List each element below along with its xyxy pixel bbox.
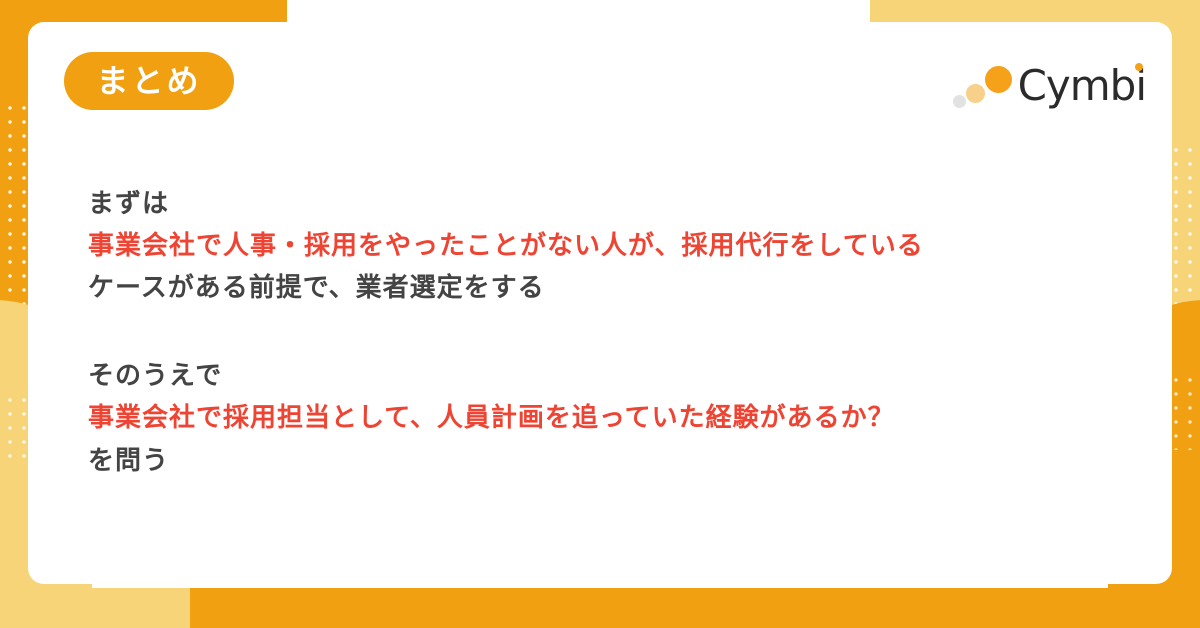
paragraph-2: そのうえで 事業会社で採用担当として、人員計画を追っていた経験があるか？ を問う — [88, 354, 1132, 480]
logo-dots-group — [952, 62, 1014, 110]
section-badge-label: まとめ — [96, 65, 201, 97]
content-card: まとめ Cymbi まずは 事業会社で人事・採用をやったことがない人が、採用代行… — [28, 22, 1172, 584]
paragraph-1-line-1: まずは — [88, 182, 1132, 224]
paragraph-2-line-1: そのうえで — [88, 354, 1132, 396]
decor-bottom-tan-bar — [0, 588, 190, 628]
logo-dot-medium-icon — [966, 84, 985, 103]
section-badge: まとめ — [64, 52, 234, 110]
logo-dot-large-icon — [985, 66, 1012, 93]
body-text-block: まずは 事業会社で人事・採用をやったことがない人が、採用代行をしている ケースが… — [88, 182, 1132, 481]
paragraph-1-line-2: 事業会社で人事・採用をやったことがない人が、採用代行をしている — [88, 224, 1132, 266]
logo-i-dot-icon — [1135, 63, 1143, 71]
paragraph-1: まずは 事業会社で人事・採用をやったことがない人が、採用代行をしている ケースが… — [88, 182, 1132, 308]
logo-dot-small-icon — [953, 95, 966, 108]
decor-bottom-orange-bar — [92, 588, 1200, 628]
paragraph-1-line-3: ケースがある前提で、業者選定をする — [88, 266, 1132, 308]
slide-root: まとめ Cymbi まずは 事業会社で人事・採用をやったことがない人が、採用代行… — [0, 0, 1200, 628]
paragraph-2-line-2: 事業会社で採用担当として、人員計画を追っていた経験があるか？ — [88, 396, 1132, 438]
paragraph-2-line-3: を問う — [88, 439, 1132, 481]
logo-wordmark: Cymbi — [1018, 65, 1146, 107]
logo-wordmark-text: Cymbi — [1018, 61, 1146, 110]
cymbi-logo: Cymbi — [952, 58, 1146, 114]
